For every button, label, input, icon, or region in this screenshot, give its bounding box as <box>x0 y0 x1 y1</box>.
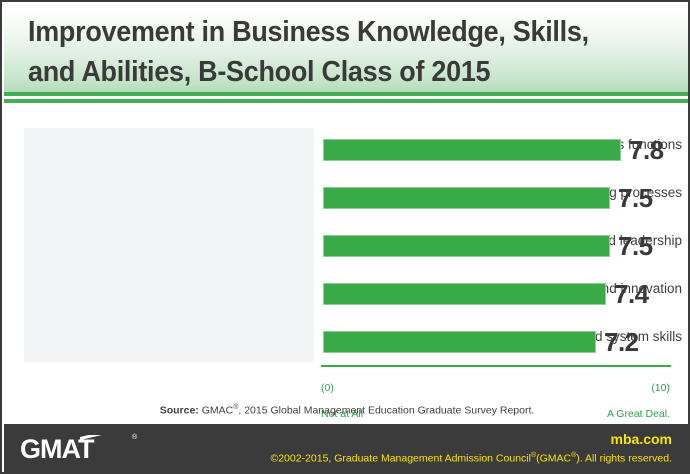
bar-knowledge-of-general-business-functions <box>323 139 621 161</box>
source-prefix: Source: <box>160 405 199 417</box>
category-label-panel <box>24 128 314 362</box>
axis-min-value: (0) <box>321 382 334 394</box>
axis-max-value: (10) <box>651 382 670 394</box>
bar-value-3: 7.5 <box>618 231 653 261</box>
bar-managing-decision-making-processes <box>323 187 610 209</box>
bar-learning-motivation-and-leadership <box>323 235 610 257</box>
page-title: Improvement in Business Knowledge, Skill… <box>28 12 623 92</box>
bar-strategic-and-system-skills <box>323 331 596 353</box>
footer-bar: GMAT ® mba.com ©2002-2015, Graduate Mana… <box>4 424 690 474</box>
gmat-registered-mark-icon: ® <box>132 434 137 441</box>
copyright-part-a: ©2002-2015, Graduate Management Admissio… <box>270 453 530 465</box>
source-note: Source: GMAC®, 2015 Global Management Ed… <box>4 401 690 418</box>
bar-value-2: 7.5 <box>618 183 653 213</box>
bar-chart: Knowledge of general business functions … <box>4 103 690 399</box>
gmat-logo: GMAT ® <box>20 432 150 466</box>
bar-value-5: 7.2 <box>604 327 639 357</box>
header-banner: Improvement in Business Knowledge, Skill… <box>4 4 690 92</box>
mba-com-link[interactable]: mba.com <box>611 431 672 448</box>
infographic-poster: Improvement in Business Knowledge, Skill… <box>0 0 690 474</box>
bar-value-4: 7.4 <box>614 279 649 309</box>
gmat-swoosh-icon <box>80 435 140 449</box>
bar-value-1: 7.8 <box>629 135 664 165</box>
source-rest: , 2015 Global Management Education Gradu… <box>238 405 534 417</box>
x-axis-line <box>321 365 671 367</box>
source-org: GMAC <box>199 405 233 417</box>
bar-managing-strategy-and-innovation <box>323 283 606 305</box>
copyright-part-c: ). All rights reserved. <box>576 453 672 465</box>
header-divider-line-top <box>4 92 690 96</box>
copyright-part-b: (GMAC <box>536 453 571 465</box>
copyright-text: ©2002-2015, Graduate Management Admissio… <box>270 449 672 466</box>
